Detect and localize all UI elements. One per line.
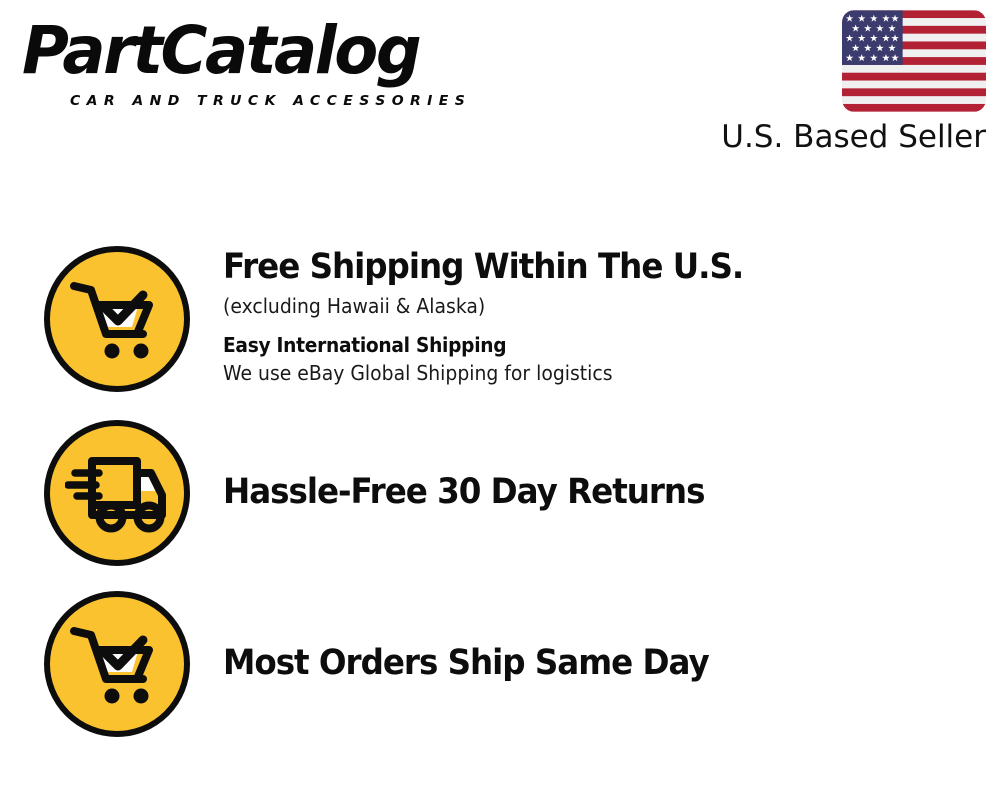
brand-tagline: CAR AND TRUCK ACCESSORIES: [70, 94, 471, 109]
us-based-seller-badge: U.S. Based Seller: [716, 10, 986, 154]
feature-badge: [44, 591, 190, 737]
us-flag-icon: [842, 10, 986, 112]
feature-title: Hassle-Free 30 Day Returns: [223, 473, 931, 512]
delivery-truck-icon: [65, 451, 169, 535]
feature-row: Hassle-Free 30 Day Returns: [44, 420, 984, 566]
feature-row: Free Shipping Within The U.S. (excluding…: [44, 246, 984, 392]
feature-title: Free Shipping Within The U.S.: [223, 248, 931, 287]
shopping-cart-check-icon: [67, 618, 167, 710]
us-based-seller-label: U.S. Based Seller: [716, 120, 986, 154]
promo-banner: PartCatalog CAR AND TRUCK ACCESSORIES: [0, 0, 1000, 800]
feature-secondary-subtitle: We use eBay Global Shipping for logistic…: [223, 361, 938, 386]
shopping-cart-check-icon: [67, 273, 167, 365]
brand-logo: PartCatalog CAR AND TRUCK ACCESSORIES: [22, 22, 492, 114]
feature-title: Most Orders Ship Same Day: [223, 644, 931, 683]
feature-text: Hassle-Free 30 Day Returns: [190, 473, 984, 512]
feature-text: Free Shipping Within The U.S. (excluding…: [190, 246, 984, 386]
feature-badge: [44, 246, 190, 392]
feature-subtitle: (excluding Hawaii & Alaska): [223, 294, 938, 319]
feature-secondary-title: Easy International Shipping: [223, 333, 931, 358]
feature-text: Most Orders Ship Same Day: [190, 644, 984, 683]
feature-row: Most Orders Ship Same Day: [44, 591, 984, 737]
brand-wordmark: PartCatalog: [22, 18, 419, 84]
feature-badge: [44, 420, 190, 566]
